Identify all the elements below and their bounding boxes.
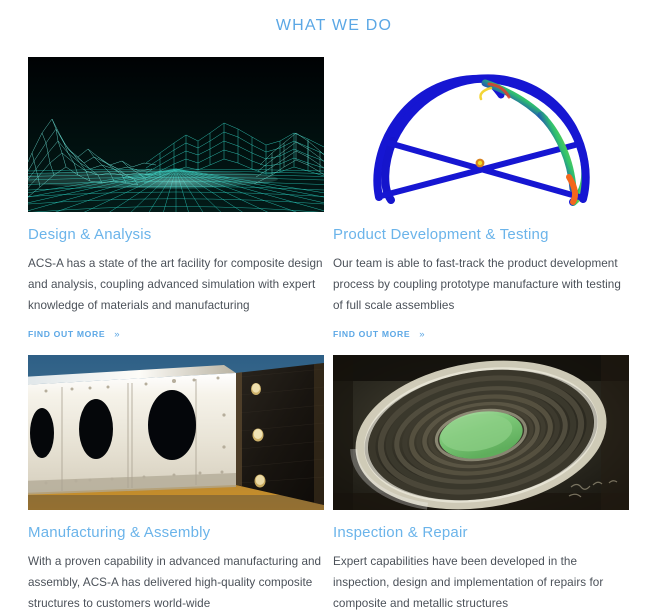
card-description: ACS-A has a state of the art facility fo… <box>28 245 324 316</box>
card-heading: Inspection & Repair <box>333 510 629 543</box>
scarf-repair-image <box>333 355 629 510</box>
card-description: Our team is able to fast-track the produ… <box>333 245 629 316</box>
fea-stress-plot-image <box>333 57 629 212</box>
service-card-manufacturing-assembly: Manufacturing & Assembly With a proven c… <box>28 355 324 614</box>
what-we-do-section: WHAT WE DO <box>0 0 668 600</box>
service-card-product-development-testing: Product Development & Testing Our team i… <box>333 57 629 342</box>
wireframe-terrain-image <box>28 57 324 212</box>
double-chevron-right-icon: » <box>105 329 119 340</box>
row-spacer <box>333 342 629 355</box>
find-out-more-link[interactable]: FIND OUT MORE» <box>333 316 425 340</box>
card-description: Expert capabilities have been developed … <box>333 543 629 614</box>
service-card-inspection-repair: Inspection & Repair Expert capabilities … <box>333 355 629 614</box>
service-card-grid: Design & Analysis ACS-A has a state of t… <box>0 57 668 614</box>
find-out-more-link[interactable]: FIND OUT MORE» <box>28 316 120 340</box>
composite-beam-image <box>28 355 324 510</box>
row-spacer <box>28 342 324 355</box>
find-out-more-label: FIND OUT MORE <box>333 329 410 339</box>
card-heading: Design & Analysis <box>28 212 324 245</box>
double-chevron-right-icon: » <box>410 329 424 340</box>
service-card-design-analysis: Design & Analysis ACS-A has a state of t… <box>28 57 324 342</box>
card-heading: Product Development & Testing <box>333 212 629 245</box>
page-title: WHAT WE DO <box>0 0 668 36</box>
find-out-more-label: FIND OUT MORE <box>28 329 105 339</box>
card-heading: Manufacturing & Assembly <box>28 510 324 543</box>
card-description: With a proven capability in advanced man… <box>28 543 324 614</box>
